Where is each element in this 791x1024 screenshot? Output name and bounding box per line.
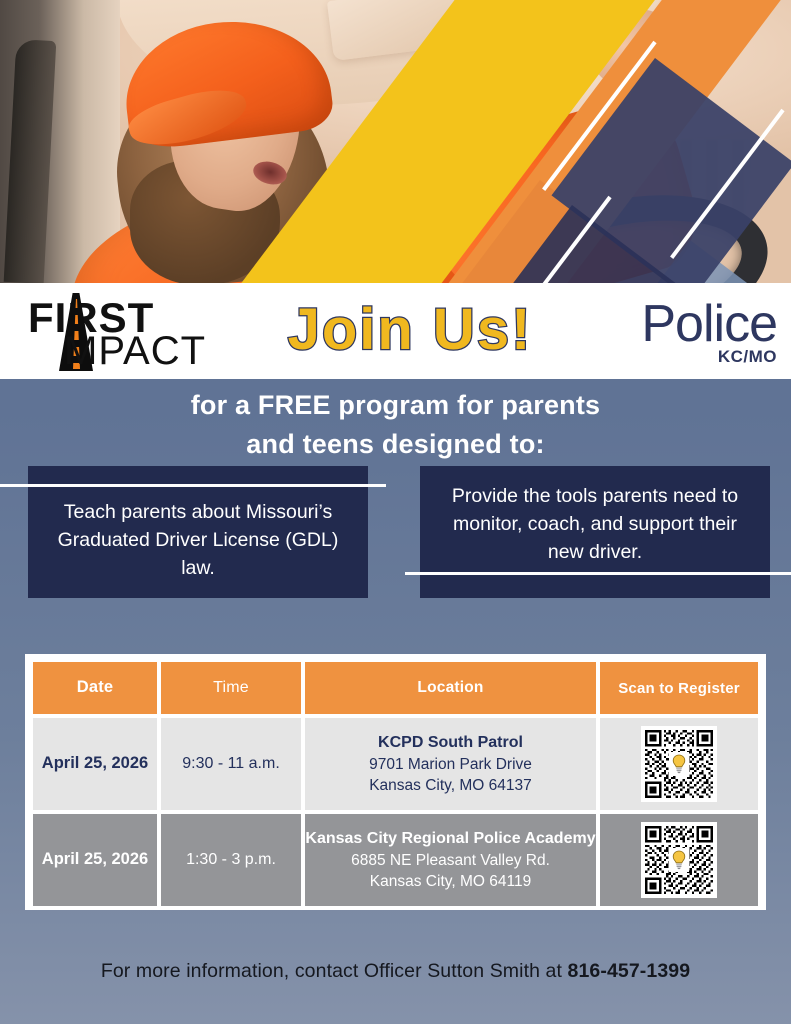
hero-photo [0, 0, 791, 283]
accent-rule-right [405, 572, 791, 575]
table-row: April 25, 2026 9:30 - 11 a.m. KCPD South… [33, 718, 758, 810]
point-box-gdl-law-text: Teach parents about Missouri’s Graduated… [28, 499, 368, 582]
column-header-date: Date [33, 662, 157, 714]
point-box-parent-tools: Provide the tools parents need to monito… [420, 466, 770, 598]
table-row: April 25, 2026 1:30 - 3 p.m. Kansas City… [33, 814, 758, 906]
qr-code-icon[interactable] [641, 726, 717, 802]
lightbulb-svg [671, 754, 687, 774]
first-impact-logo: FIRST MPACT [16, 291, 248, 371]
intro-line-1: for a FREE program for parents [0, 386, 791, 425]
location-street: 6885 NE Pleasant Valley Rd. [351, 852, 550, 869]
intro-heading: for a FREE program for parents and teens… [0, 386, 791, 464]
intro-line-2: and teens designed to: [0, 425, 791, 464]
join-us-text: Join Us! [288, 297, 533, 362]
contact-phone: 816-457-1399 [568, 960, 691, 982]
sessions-table-head: Date Time Location Scan to Register [33, 662, 758, 714]
column-header-scan-to-register: Scan to Register [600, 662, 758, 714]
lightbulb-icon [669, 848, 689, 872]
cell-date: April 25, 2026 [33, 718, 157, 810]
cell-date: April 25, 2026 [33, 814, 157, 906]
cell-time: 9:30 - 11 a.m. [161, 718, 301, 810]
location-street: 9701 Marion Park Drive [369, 756, 532, 773]
column-header-location: Location [305, 662, 596, 714]
join-us-headline: Join Us! [248, 296, 572, 363]
cell-qr [600, 718, 758, 810]
flyer-page: FIRST MPACT Join Us! Police KC/MO for a … [0, 0, 791, 1024]
lightbulb-icon [669, 752, 689, 776]
column-header-time: Time [161, 662, 301, 714]
police-kcmo-logo: Police KC/MO [572, 298, 777, 365]
police-word: Police [572, 298, 777, 350]
sessions-table-body: April 25, 2026 9:30 - 11 a.m. KCPD South… [33, 718, 758, 906]
accent-rule-left [0, 484, 386, 487]
cell-qr [600, 814, 758, 906]
location-name: KCPD South Patrol [305, 732, 596, 754]
sessions-table-container: Date Time Location Scan to Register Apri… [25, 654, 766, 910]
cell-location: Kansas City Regional Police Academy 6885… [305, 814, 596, 906]
point-box-parent-tools-text: Provide the tools parents need to monito… [420, 483, 770, 566]
table-header-row: Date Time Location Scan to Register [33, 662, 758, 714]
location-city: Kansas City, MO 64137 [369, 777, 532, 794]
driver-photo [0, 0, 791, 283]
sessions-table: Date Time Location Scan to Register Apri… [29, 658, 762, 910]
lightbulb-svg [671, 850, 687, 870]
first-impact-second-word: MPACT [64, 329, 206, 374]
location-name: Kansas City Regional Police Academy [305, 828, 596, 850]
cell-location: KCPD South Patrol 9701 Marion Park Drive… [305, 718, 596, 810]
contact-footer-text: For more information, contact Officer Su… [101, 960, 568, 982]
cell-time: 1:30 - 3 p.m. [161, 814, 301, 906]
contact-footer: For more information, contact Officer Su… [0, 960, 791, 983]
logo-band: FIRST MPACT Join Us! Police KC/MO [0, 283, 791, 379]
qr-code-icon[interactable] [641, 822, 717, 898]
location-city: Kansas City, MO 64119 [370, 873, 531, 890]
